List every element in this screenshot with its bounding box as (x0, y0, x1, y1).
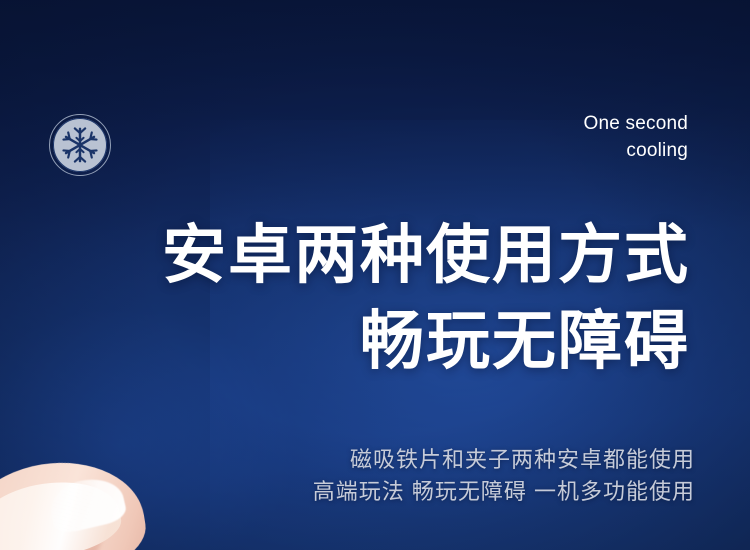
product-banner: One second cooling 安卓两种使用方式 畅玩无障碍 磁吸铁片和夹… (0, 0, 750, 550)
headline-line-1: 安卓两种使用方式 (0, 212, 690, 298)
subtitle-block: 磁吸铁片和夹子两种安卓都能使用 高端玩法 畅玩无障碍 一机多功能使用 (35, 444, 695, 508)
subtitle-line-2: 高端玩法 畅玩无障碍 一机多功能使用 (35, 476, 695, 508)
eyebrow-line-1: One second (368, 110, 688, 137)
headline: 安卓两种使用方式 畅玩无障碍 (0, 212, 690, 384)
subtitle-line-1: 磁吸铁片和夹子两种安卓都能使用 (35, 444, 695, 476)
headline-line-2: 畅玩无障碍 (0, 298, 690, 384)
eyebrow-text: One second cooling (368, 110, 688, 164)
snowflake-badge (49, 114, 111, 176)
eyebrow-line-2: cooling (368, 137, 688, 164)
snowflake-icon (61, 126, 99, 164)
